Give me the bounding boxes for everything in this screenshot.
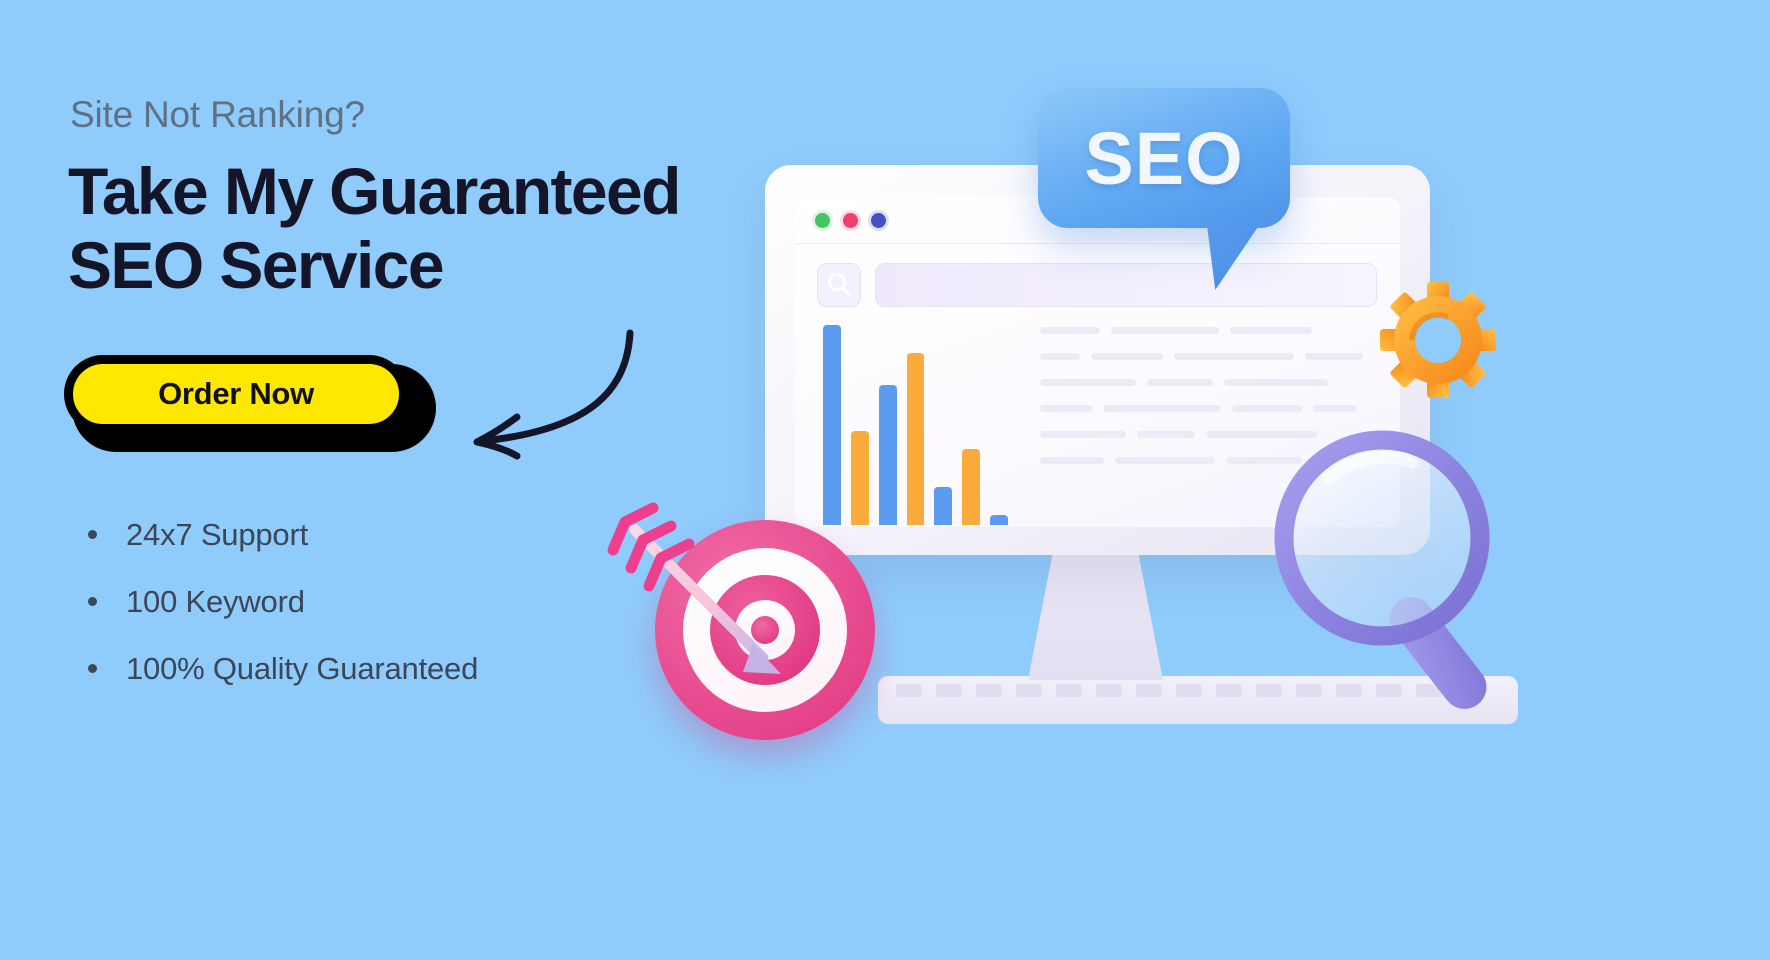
bar <box>934 487 952 525</box>
bar-chart <box>823 325 1008 525</box>
placeholder-line <box>1040 379 1136 386</box>
gear-icon <box>1378 280 1498 400</box>
key <box>976 684 1002 697</box>
placeholder-line-row <box>1040 353 1390 360</box>
bar <box>851 431 869 525</box>
bar <box>990 515 1008 525</box>
key <box>936 684 962 697</box>
magnifier-icon <box>1260 420 1540 730</box>
key <box>1056 684 1082 697</box>
placeholder-line <box>1040 405 1092 412</box>
placeholder-line <box>1305 353 1363 360</box>
illustration: SEO <box>620 40 1770 940</box>
bar <box>879 385 897 525</box>
placeholder-line <box>1313 405 1357 412</box>
search-icon-button[interactable] <box>817 263 861 307</box>
key <box>1216 684 1242 697</box>
browser-dots <box>815 213 886 228</box>
bar <box>962 449 980 525</box>
key <box>1136 684 1162 697</box>
seo-promo-banner: Site Not Ranking? Take My Guaranteed SEO… <box>0 0 1770 960</box>
placeholder-line <box>1111 327 1219 334</box>
headline-line-1: Take My Guaranteed <box>68 154 680 228</box>
placeholder-line-row <box>1040 327 1390 334</box>
monitor-stand <box>1028 555 1163 680</box>
curved-arrow-icon <box>455 325 635 460</box>
placeholder-line <box>1115 457 1215 464</box>
bar <box>823 325 841 525</box>
key <box>1016 684 1042 697</box>
key <box>896 684 922 697</box>
red-dot-icon <box>843 213 858 228</box>
placeholder-line <box>1137 431 1195 438</box>
browser-divider <box>795 243 1400 244</box>
key <box>1096 684 1122 697</box>
key <box>1176 684 1202 697</box>
placeholder-line <box>1230 327 1312 334</box>
placeholder-line <box>1040 431 1126 438</box>
search-icon <box>818 264 860 306</box>
placeholder-line <box>1103 405 1221 412</box>
order-now-button[interactable]: Order Now <box>64 355 408 433</box>
placeholder-line <box>1040 353 1080 360</box>
target-icon <box>655 520 875 740</box>
placeholder-line <box>1091 353 1163 360</box>
placeholder-line <box>1232 405 1302 412</box>
placeholder-line <box>1224 379 1328 386</box>
placeholder-line-row <box>1040 379 1390 386</box>
headline-line-2: SEO Service <box>68 228 443 302</box>
placeholder-line <box>1040 327 1100 334</box>
seo-speech-bubble: SEO <box>1038 88 1290 228</box>
bar <box>907 353 925 525</box>
seo-bubble-label: SEO <box>1084 116 1243 201</box>
blue-dot-icon <box>871 213 886 228</box>
search-input[interactable] <box>875 263 1377 307</box>
green-dot-icon <box>815 213 830 228</box>
placeholder-line <box>1040 457 1104 464</box>
arrow-icon <box>567 468 817 718</box>
placeholder-line-row <box>1040 405 1390 412</box>
placeholder-line <box>1147 379 1213 386</box>
placeholder-line <box>1174 353 1294 360</box>
cta-wrapper: Order Now <box>64 355 436 453</box>
